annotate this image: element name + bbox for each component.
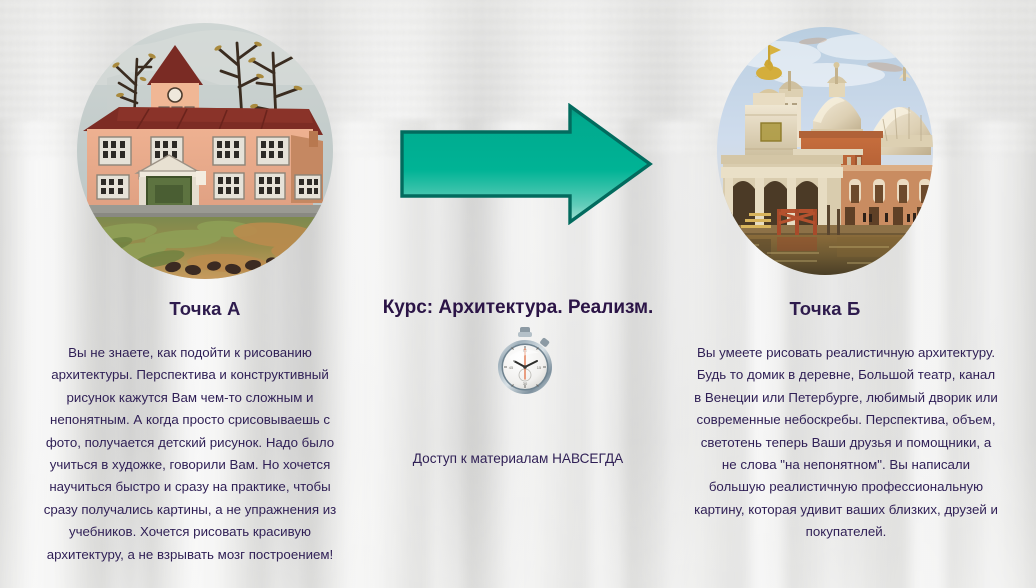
right-arrow-icon xyxy=(398,103,654,225)
point-a-description: Вы не знаете, как подойти к рисованию ар… xyxy=(38,342,342,566)
realistic-watercolor-venice-icon xyxy=(717,27,933,275)
point-b-heading: Точка Б xyxy=(700,298,950,320)
course-title: Курс: Архитектура. Реализм. xyxy=(346,297,690,319)
stopwatch-icon: 60 15 30 45 xyxy=(492,325,558,397)
svg-text:15: 15 xyxy=(537,365,542,370)
transition-arrow xyxy=(398,103,654,225)
svg-text:30: 30 xyxy=(523,381,528,386)
slide-root: 60 15 30 45 Точка А Точка Б Курс: Архите… xyxy=(0,0,1036,588)
svg-text:45: 45 xyxy=(509,365,514,370)
point-b-image xyxy=(717,27,933,275)
naive-painting-pink-manor-house-icon xyxy=(77,23,333,279)
point-a-heading: Точка А xyxy=(55,298,355,320)
point-b-description: Вы умеете рисовать реалистичную архитект… xyxy=(694,342,998,544)
point-a-image xyxy=(77,23,333,279)
course-timer: 60 15 30 45 xyxy=(492,325,558,397)
access-note: Доступ к материалам НАВСЕГДА xyxy=(376,451,660,466)
slide-content: 60 15 30 45 Точка А Точка Б Курс: Архите… xyxy=(0,0,1036,588)
